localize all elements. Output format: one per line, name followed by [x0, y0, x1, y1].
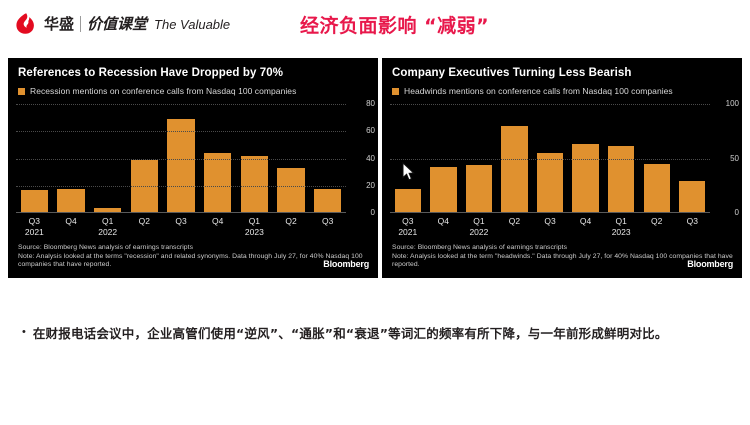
y-axis-tick-label: 0: [735, 208, 739, 217]
x-axis-labels: Q32021Q4 Q12022Q2 Q3 Q4 Q12023Q2 Q3: [390, 216, 710, 242]
gridline: [16, 186, 346, 187]
x-axis-quarter: Q4: [568, 216, 604, 227]
bar: [608, 146, 634, 212]
chart-plot-area: [390, 103, 710, 213]
body-bullet: • 在财报电话会议中，企业高管们使用“逆风”、“通胀”和“衰退”等词汇的频率有所…: [22, 322, 728, 345]
x-axis-year: [199, 227, 236, 238]
bar-cell: [163, 103, 200, 212]
bar-cell: [390, 103, 426, 212]
bar-cell: [461, 103, 497, 212]
bar: [204, 153, 231, 212]
y-axis-labels: 020406080: [351, 103, 375, 214]
brand-lockup: 华盛 价值课堂 The Valuable: [14, 11, 230, 37]
mouse-pointer-icon: [402, 162, 415, 181]
bar-cell: [675, 103, 711, 212]
bullet-marker-icon: •: [22, 322, 26, 343]
y-axis-labels: 050100: [715, 103, 739, 214]
x-axis-quarter: Q2: [126, 216, 163, 227]
slide-title: 经济负面影响 “减弱”: [300, 11, 489, 38]
x-axis-quarter: Q2: [639, 216, 675, 227]
bar: [94, 208, 121, 212]
x-axis-tick-label: Q4: [426, 216, 462, 242]
x-axis-tick-label: Q2: [126, 216, 163, 242]
legend-label: Headwinds mentions on conference calls f…: [404, 86, 673, 96]
x-axis-year: 2022: [461, 227, 497, 238]
bar-cell: [532, 103, 568, 212]
x-axis-quarter: Q1: [236, 216, 273, 227]
x-axis-quarter: Q3: [309, 216, 346, 227]
x-axis-quarter: Q1: [461, 216, 497, 227]
x-axis-tick-label: Q3: [163, 216, 200, 242]
bar: [57, 189, 84, 212]
axis-baseline: [16, 212, 346, 213]
bar: [679, 181, 705, 212]
x-axis-year: [53, 227, 90, 238]
brand-name-en: The Valuable: [154, 17, 230, 32]
legend-swatch-icon: [392, 88, 399, 95]
x-axis-tick-label: Q32021: [16, 216, 53, 242]
x-axis-quarter: Q3: [163, 216, 200, 227]
bar-cell: [568, 103, 604, 212]
bar: [537, 153, 563, 212]
x-axis-year: [639, 227, 675, 238]
x-axis-year: [532, 227, 568, 238]
x-axis-year: 2023: [603, 227, 639, 238]
gridline: [16, 131, 346, 132]
x-axis-tick-label: Q4: [199, 216, 236, 242]
legend-label: Recession mentions on conference calls f…: [30, 86, 296, 96]
bar: [395, 189, 421, 212]
x-axis-quarter: Q2: [497, 216, 533, 227]
brand-name-secondary: 价值课堂: [87, 16, 147, 33]
slide-canvas: 华盛 价值课堂 The Valuable 经济负面影响 “减弱” Referen…: [0, 0, 750, 425]
x-axis-year: 2021: [390, 227, 426, 238]
chart-title: Company Executives Turning Less Bearish: [392, 67, 632, 79]
bar: [314, 189, 341, 212]
x-axis-tick-label: Q4: [568, 216, 604, 242]
flame-logo-icon: [14, 12, 39, 36]
chart-title: References to Recession Have Dropped by …: [18, 67, 283, 79]
y-axis-tick-label: 20: [366, 181, 375, 190]
y-axis-tick-label: 80: [366, 99, 375, 108]
x-axis-year: [426, 227, 462, 238]
bar: [430, 167, 456, 212]
chart-plot-area: [16, 103, 346, 213]
x-axis-tick-label: Q2: [639, 216, 675, 242]
legend-swatch-icon: [18, 88, 25, 95]
gridline: [390, 104, 710, 105]
bar-cell: [426, 103, 462, 212]
x-axis-quarter: Q3: [675, 216, 711, 227]
slide-header: 华盛 价值课堂 The Valuable 经济负面影响 “减弱”: [0, 0, 750, 50]
x-axis-year: 2022: [89, 227, 126, 238]
bar-cell: [309, 103, 346, 212]
y-axis-tick-label: 60: [366, 126, 375, 135]
x-axis-quarter: Q4: [199, 216, 236, 227]
y-axis-tick-label: 40: [366, 154, 375, 163]
x-axis-year: [497, 227, 533, 238]
x-axis-year: [126, 227, 163, 238]
bar-cell: [53, 103, 90, 212]
bar-series: [16, 103, 346, 212]
x-axis-year: [675, 227, 711, 238]
x-axis-year: [163, 227, 200, 238]
bar: [277, 168, 304, 212]
bloomberg-watermark: Bloomberg: [687, 259, 733, 269]
x-axis-quarter: Q4: [53, 216, 90, 227]
bar-cell: [199, 103, 236, 212]
x-axis-tick-label: Q12022: [461, 216, 497, 242]
gridline: [390, 159, 710, 160]
body-paragraph: 在财报电话会议中，企业高管们使用“逆风”、“通胀”和“衰退”等词汇的频率有所下降…: [33, 322, 668, 345]
x-axis-tick-label: Q12023: [236, 216, 273, 242]
x-axis-quarter: Q3: [390, 216, 426, 227]
bloomberg-watermark: Bloomberg: [323, 259, 369, 269]
bar: [167, 119, 194, 212]
bar-cell: [126, 103, 163, 212]
x-axis-quarter: Q1: [603, 216, 639, 227]
x-axis-labels: Q32021Q4 Q12022Q2 Q3 Q4 Q12023Q2 Q3: [16, 216, 346, 242]
bar: [21, 190, 48, 212]
chart-source: Source: Bloomberg News analysis of earni…: [18, 244, 378, 253]
chart-legend: Headwinds mentions on conference calls f…: [392, 86, 673, 96]
x-axis-quarter: Q3: [532, 216, 568, 227]
bar-series: [390, 103, 710, 212]
x-axis-tick-label: Q2: [273, 216, 310, 242]
chart-source: Source: Bloomberg News analysis of earni…: [392, 244, 742, 253]
brand-divider: [80, 16, 81, 32]
x-axis-tick-label: Q4: [53, 216, 90, 242]
bar: [466, 165, 492, 212]
x-axis-year: [568, 227, 604, 238]
gridline: [16, 159, 346, 160]
x-axis-tick-label: Q32021: [390, 216, 426, 242]
y-axis-tick-label: 100: [726, 99, 739, 108]
y-axis-tick-label: 50: [730, 154, 739, 163]
bar-cell: [89, 103, 126, 212]
x-axis-quarter: Q3: [16, 216, 53, 227]
x-axis-tick-label: Q3: [309, 216, 346, 242]
bar-cell: [16, 103, 53, 212]
x-axis-tick-label: Q12022: [89, 216, 126, 242]
x-axis-year: [309, 227, 346, 238]
chart-legend: Recession mentions on conference calls f…: [18, 86, 296, 96]
bar-cell: [639, 103, 675, 212]
x-axis-tick-label: Q2: [497, 216, 533, 242]
y-axis-tick-label: 0: [371, 208, 375, 217]
bar: [501, 126, 527, 212]
bar: [241, 156, 268, 212]
bar-cell: [497, 103, 533, 212]
x-axis-quarter: Q1: [89, 216, 126, 227]
axis-baseline: [390, 212, 710, 213]
chart-panel-recession: References to Recession Have Dropped by …: [8, 58, 378, 278]
x-axis-tick-label: Q3: [675, 216, 711, 242]
x-axis-year: 2023: [236, 227, 273, 238]
bar-cell: [273, 103, 310, 212]
bar: [644, 164, 670, 212]
x-axis-tick-label: Q3: [532, 216, 568, 242]
brand-name-cn: 华盛: [44, 16, 74, 33]
x-axis-year: [273, 227, 310, 238]
bar: [572, 144, 598, 212]
chart-panel-headwinds: Company Executives Turning Less Bearish …: [382, 58, 742, 278]
x-axis-tick-label: Q12023: [603, 216, 639, 242]
x-axis-quarter: Q2: [273, 216, 310, 227]
x-axis-quarter: Q4: [426, 216, 462, 227]
x-axis-year: 2021: [16, 227, 53, 238]
bar-cell: [236, 103, 273, 212]
bar-cell: [603, 103, 639, 212]
gridline: [16, 104, 346, 105]
